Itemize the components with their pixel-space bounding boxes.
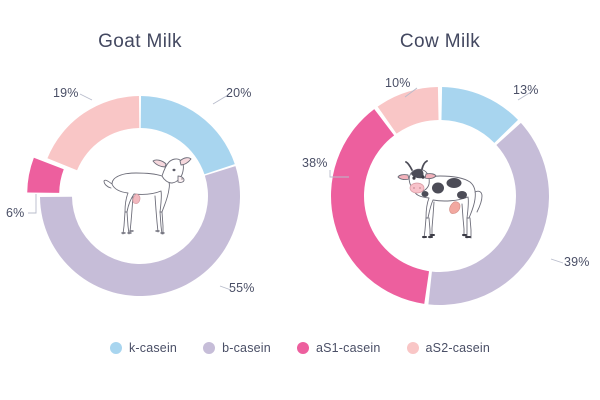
legend-label: k-casein <box>129 341 177 355</box>
legend-item-aS2-casein[interactable]: aS2-casein <box>407 341 491 355</box>
cow-aS1-casein-percent: 38% <box>302 156 328 170</box>
cow-illustration <box>392 150 492 242</box>
legend-label: aS1-casein <box>316 341 381 355</box>
chart-legend: k-caseinb-caseinaS1-caseinaS2-casein <box>0 341 600 355</box>
infographic-canvas: Goat Milk <box>0 0 600 400</box>
legend-dot-aS1-casein <box>297 342 309 354</box>
cow-b-casein-leader <box>551 259 563 263</box>
legend-dot-b-casein <box>203 342 215 354</box>
cow-slice-k-casein[interactable] <box>441 87 518 143</box>
cow-b-casein-percent: 39% <box>564 255 590 269</box>
legend-dot-aS2-casein <box>407 342 419 354</box>
cow-k-casein-percent: 13% <box>513 83 539 97</box>
legend-dot-k-casein <box>110 342 122 354</box>
legend-label: aS2-casein <box>426 341 491 355</box>
legend-item-aS1-casein[interactable]: aS1-casein <box>297 341 381 355</box>
legend-item-b-casein[interactable]: b-casein <box>203 341 271 355</box>
cow-aS2-casein-percent: 10% <box>385 76 411 90</box>
cow-donut-chart <box>0 0 600 400</box>
legend-item-k-casein[interactable]: k-casein <box>110 341 177 355</box>
legend-label: b-casein <box>222 341 271 355</box>
